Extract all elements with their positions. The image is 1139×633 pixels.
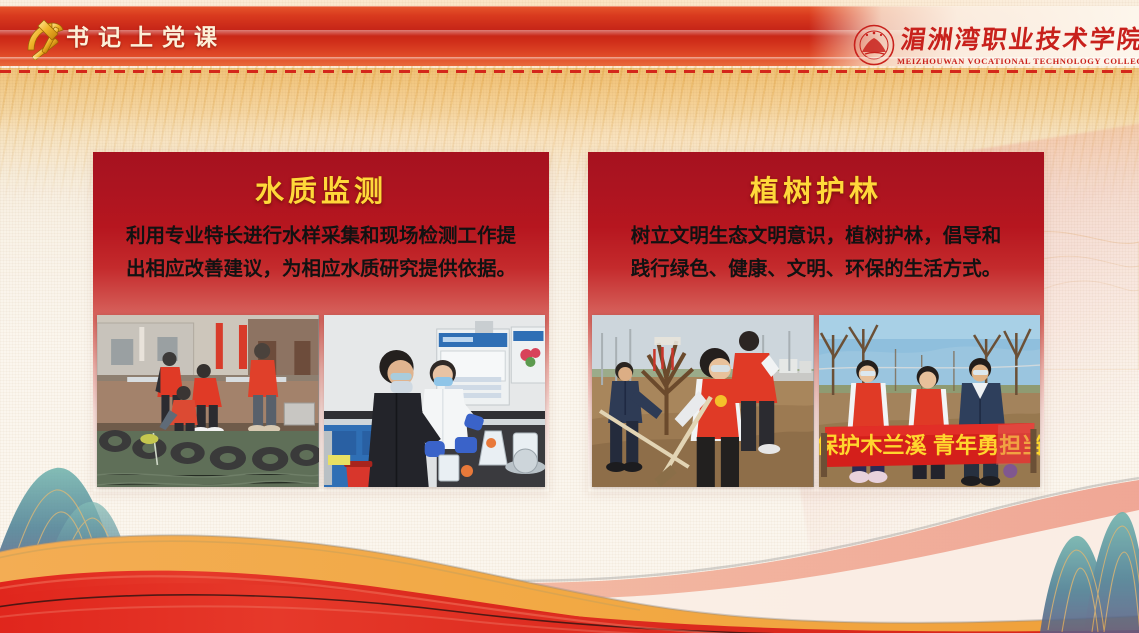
bottom-decoration <box>0 458 1139 633</box>
card-body-line: 利用专业特长进行水样采集和现场检测工作提 <box>105 220 537 253</box>
card-tree-planting: 植树护林 树立文明生态文明意识，植树护林，倡导和 践行绿色、健康、文明、环保的生… <box>588 152 1044 492</box>
top-header-bar: 书记上党课 湄洲湾职业技术学院 MEIZHOUWAN VOCATIONAL TE… <box>0 6 1139 66</box>
card-water-quality: 水质监测 利用专业特长进行水样采集和现场检测工作提 出相应改善建议，为相应水质研… <box>93 152 549 492</box>
card-body-line: 践行绿色、健康、文明、环保的生活方式。 <box>600 253 1032 286</box>
card-body-text: 利用专业特长进行水样采集和现场检测工作提 出相应改善建议，为相应水质研究提供依据… <box>105 220 537 286</box>
college-logo: 湄洲湾职业技术学院 MEIZHOUWAN VOCATIONAL TECHNOLO… <box>839 20 1131 72</box>
college-seal-icon <box>853 24 895 66</box>
card-title: 水质监测 <box>93 168 549 210</box>
college-name-cn: 湄洲湾职业技术学院 <box>899 20 1139 56</box>
card-body-text: 树立文明生态文明意识，植树护林，倡导和 践行绿色、健康、文明、环保的生活方式。 <box>600 220 1032 286</box>
header-dashed-divider <box>0 70 1139 73</box>
cpc-hammer-sickle-emblem-icon <box>18 14 70 60</box>
card-body-line: 树立文明生态文明意识，植树护林，倡导和 <box>600 220 1032 253</box>
page-title: 书记上党课 <box>66 20 226 54</box>
slide-root: 书记上党课 湄洲湾职业技术学院 MEIZHOUWAN VOCATIONAL TE… <box>0 0 1139 633</box>
card-title: 植树护林 <box>588 168 1044 210</box>
college-name-en: MEIZHOUWAN VOCATIONAL TECHNOLOGY COLLEGE <box>897 56 1139 66</box>
card-body-line: 出相应改善建议，为相应水质研究提供依据。 <box>105 253 537 286</box>
